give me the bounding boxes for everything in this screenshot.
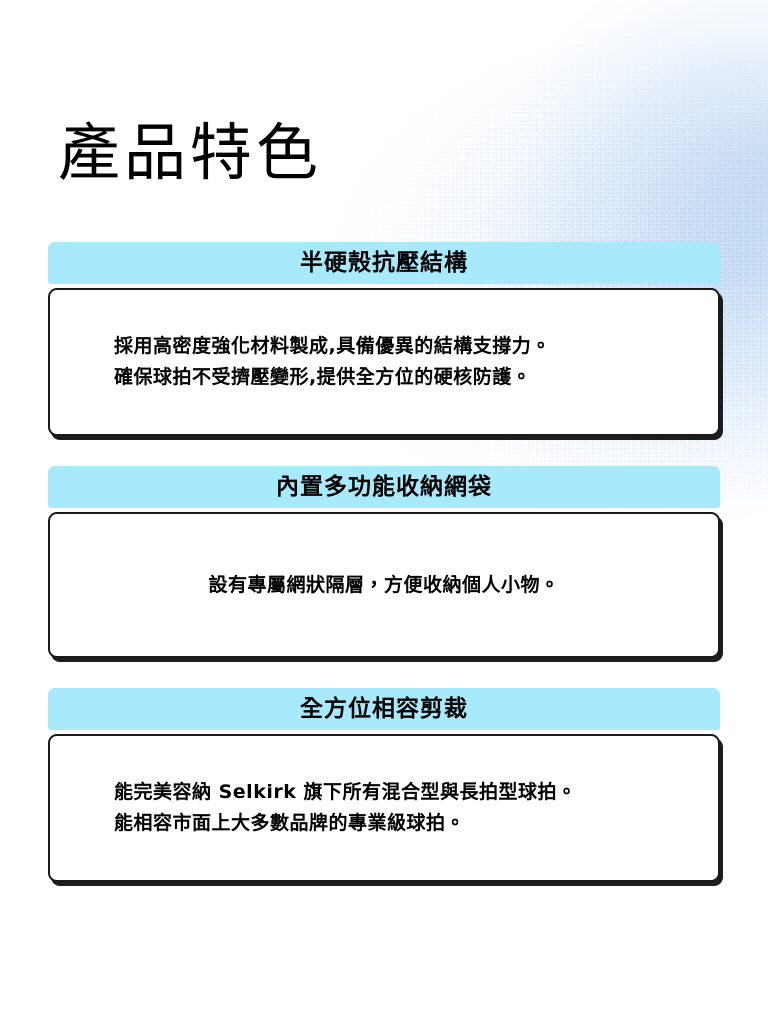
feature-card-header-label: 全方位相容剪裁 bbox=[300, 698, 468, 721]
feature-card-body-line: 能完美容納 Selkirk 旗下所有混合型與長拍型球拍。 bbox=[86, 777, 682, 808]
feature-card-header: 半硬殼抗壓結構 bbox=[48, 242, 720, 284]
feature-card: 內置多功能收納網袋 設有專屬網狀隔層，方便收納個人小物。 bbox=[48, 466, 720, 658]
feature-card-body-line: 設有專屬網狀隔層，方便收納個人小物。 bbox=[86, 570, 682, 601]
feature-card-header: 內置多功能收納網袋 bbox=[48, 466, 720, 508]
feature-card-header-label: 內置多功能收納網袋 bbox=[276, 476, 492, 499]
feature-card-header-label: 半硬殼抗壓結構 bbox=[300, 252, 468, 275]
feature-card-body-line: 確保球拍不受擠壓變形,提供全方位的硬核防護。 bbox=[86, 362, 682, 393]
feature-card-header: 全方位相容剪裁 bbox=[48, 688, 720, 730]
page-title: 產品特色 bbox=[58, 120, 322, 187]
feature-card-list: 半硬殼抗壓結構 採用高密度強化材料製成,具備優異的結構支撐力。 確保球拍不受擠壓… bbox=[48, 242, 720, 882]
feature-card: 半硬殼抗壓結構 採用高密度強化材料製成,具備優異的結構支撐力。 確保球拍不受擠壓… bbox=[48, 242, 720, 436]
product-features-page: 產品特色 半硬殼抗壓結構 採用高密度強化材料製成,具備優異的結構支撐力。 確保球… bbox=[0, 0, 768, 1024]
feature-card-body-line: 採用高密度強化材料製成,具備優異的結構支撐力。 bbox=[86, 331, 682, 362]
feature-card: 全方位相容剪裁 能完美容納 Selkirk 旗下所有混合型與長拍型球拍。 能相容… bbox=[48, 688, 720, 882]
feature-card-body-line: 能相容市面上大多數品牌的專業級球拍。 bbox=[86, 808, 682, 839]
feature-card-body: 採用高密度強化材料製成,具備優異的結構支撐力。 確保球拍不受擠壓變形,提供全方位… bbox=[48, 288, 720, 436]
feature-card-body: 設有專屬網狀隔層，方便收納個人小物。 bbox=[48, 512, 720, 658]
feature-card-body: 能完美容納 Selkirk 旗下所有混合型與長拍型球拍。 能相容市面上大多數品牌… bbox=[48, 734, 720, 882]
